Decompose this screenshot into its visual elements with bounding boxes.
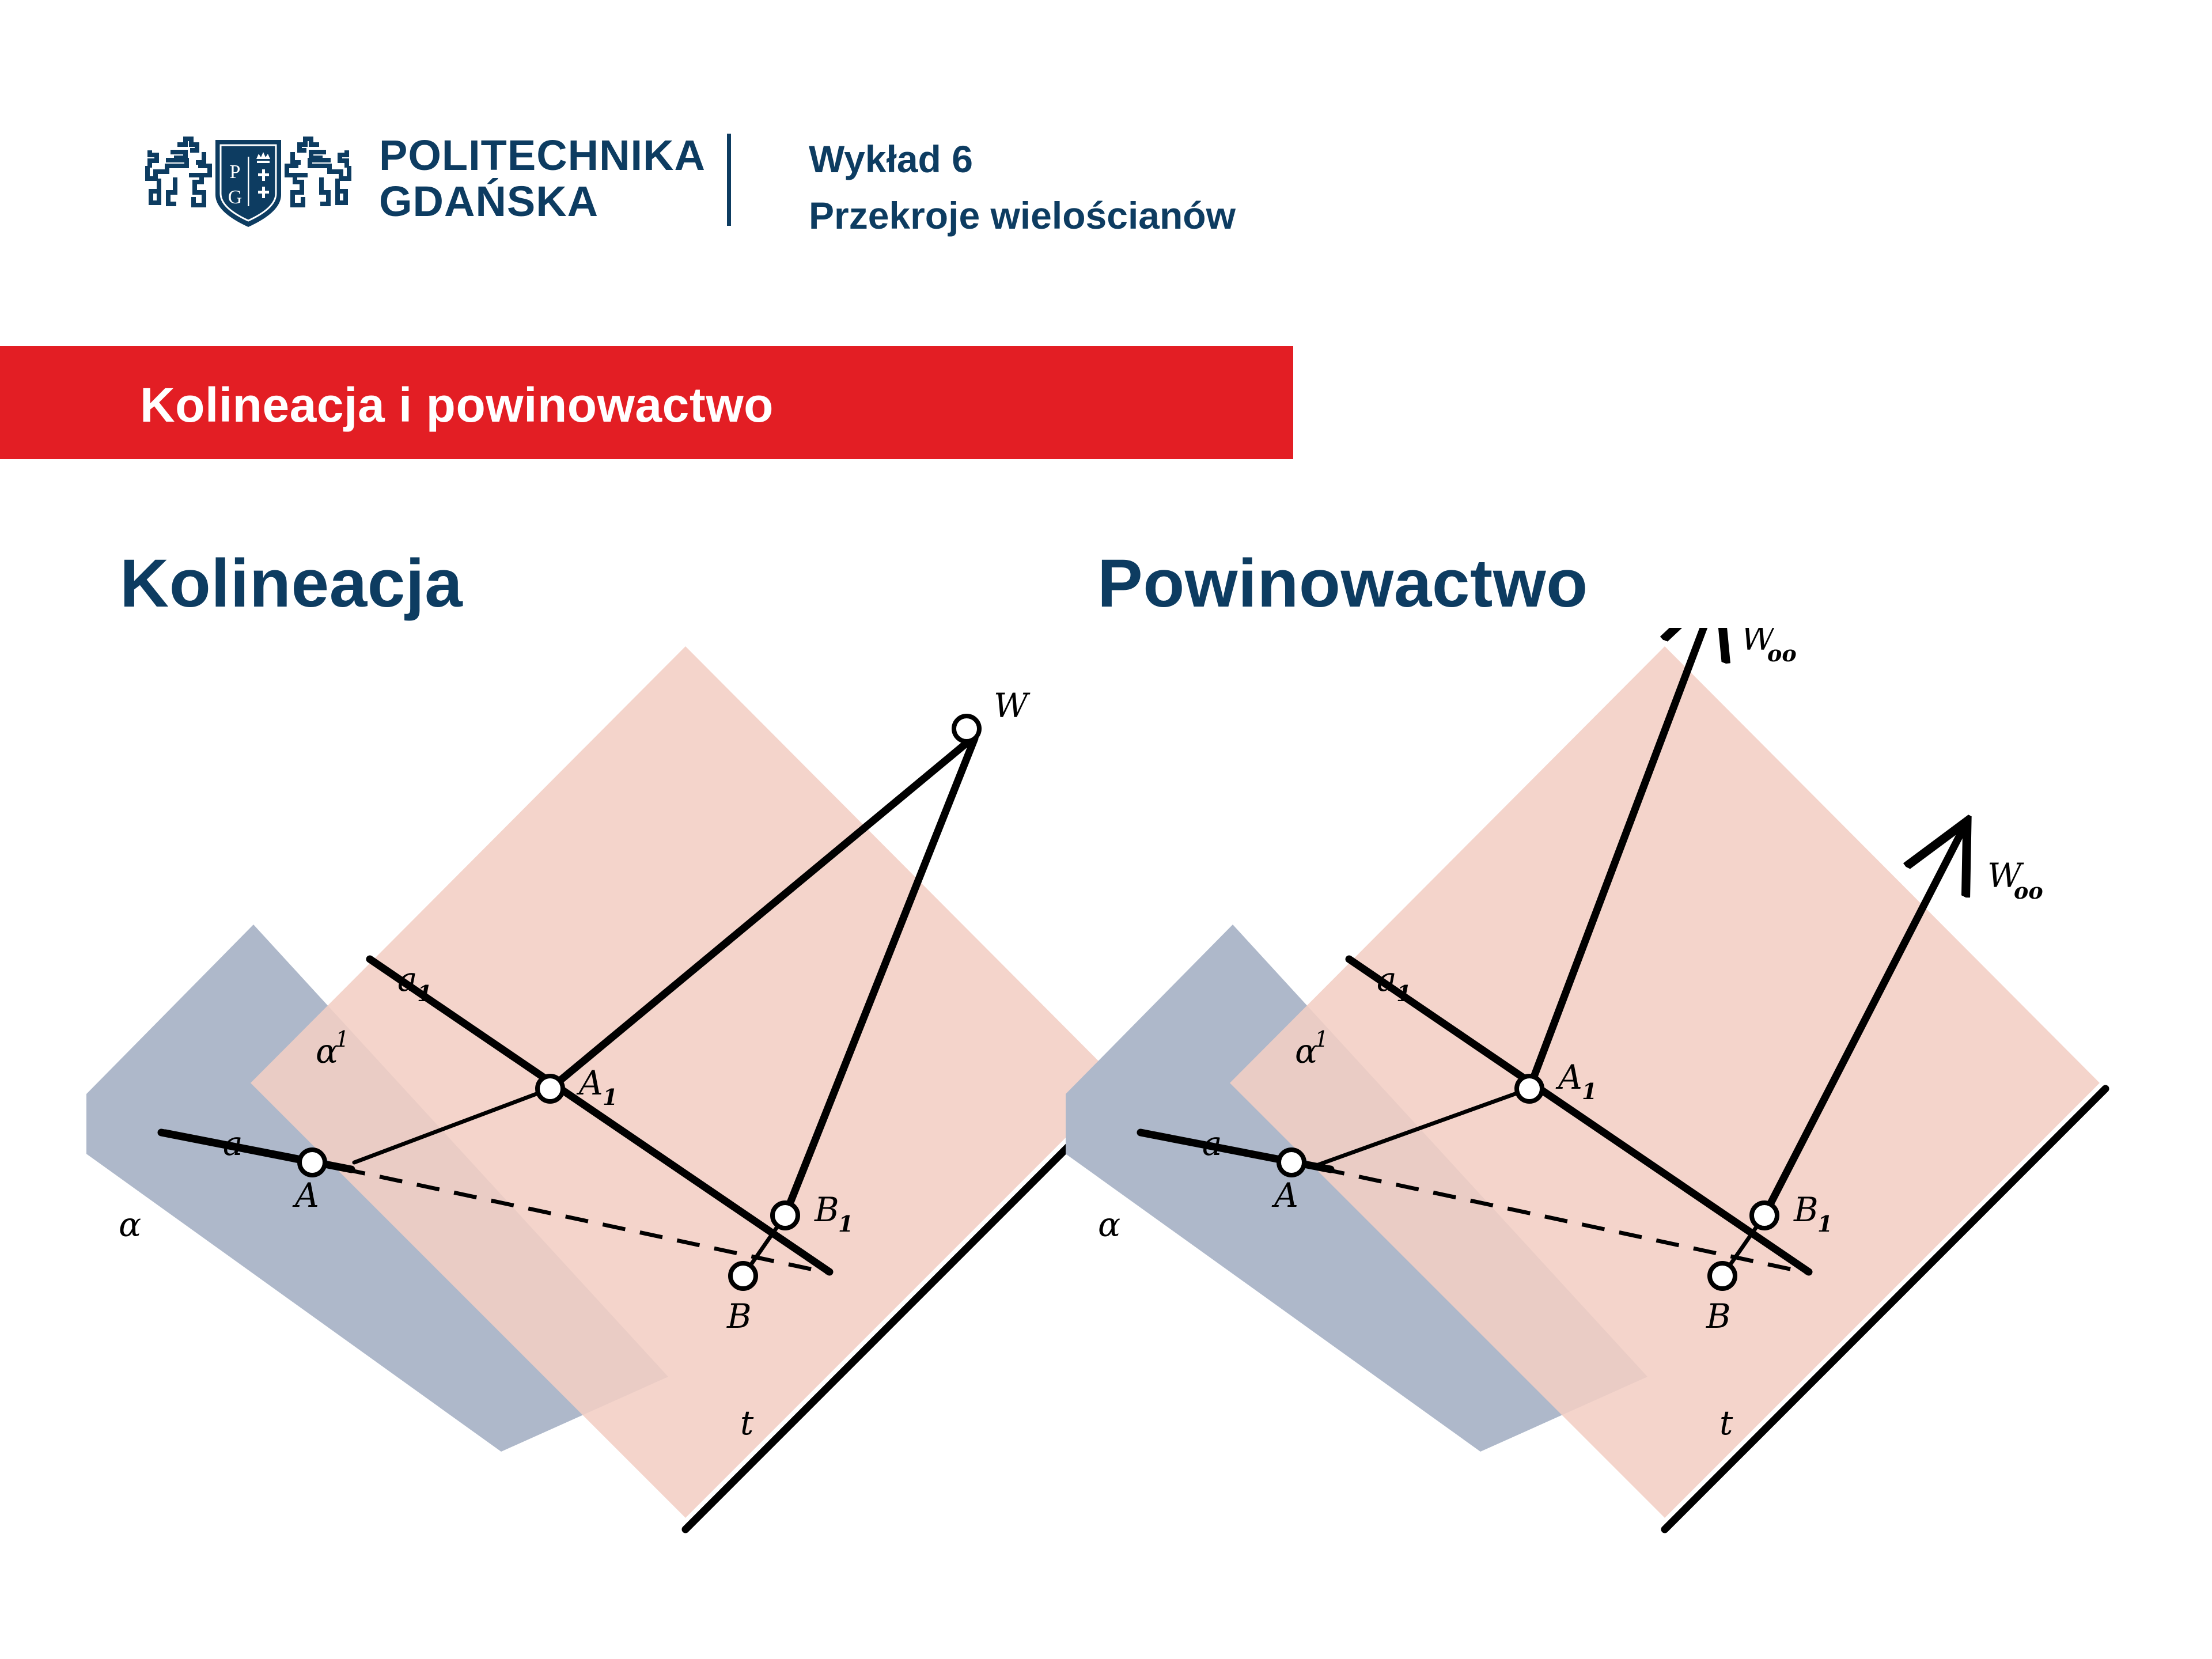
label-a1: a <box>1377 960 1397 999</box>
label-a1: a <box>397 960 418 999</box>
label-W-infinity-2-subscript: oo <box>2014 878 2043 904</box>
point-A <box>1279 1150 1304 1175</box>
point-A1 <box>537 1076 563 1101</box>
pg-coat-of-arms-icon: P G <box>136 124 361 237</box>
point-A <box>300 1150 325 1175</box>
label-A1: A <box>576 1063 603 1103</box>
label-A1: A <box>1555 1058 1582 1097</box>
point-B1 <box>772 1203 798 1228</box>
label-B: B <box>726 1297 752 1336</box>
label-axis-t: t <box>1719 1403 1733 1442</box>
lecture-number: Wykład 6 <box>809 131 1236 188</box>
label-A: A <box>292 1176 319 1215</box>
label-axis-t: t <box>740 1403 754 1442</box>
header-divider <box>727 134 731 226</box>
svg-text:G: G <box>228 187 243 208</box>
lecture-topic: Przekroje wielościanów <box>809 188 1236 244</box>
label-line-a: a <box>1202 1124 1222 1163</box>
point-W <box>954 716 979 741</box>
plane-alpha-image <box>251 646 1120 1518</box>
point-B <box>730 1263 756 1289</box>
label-A1-subscript: 1 <box>603 1084 618 1110</box>
label-B1: B <box>1793 1190 1819 1229</box>
panel-title-kolineacja: Kolineacja <box>120 544 463 623</box>
label-plane-alpha-base: α <box>119 1205 141 1244</box>
label-plane-alpha-base: α <box>1098 1205 1120 1244</box>
diagram-kolineacja: W a 1 α 1 A 1 a A B 1 B α t <box>86 628 1181 1659</box>
label-B: B <box>1706 1297 1731 1336</box>
point-B1 <box>1752 1203 1777 1228</box>
label-plane-alpha-image-superscript: 1 <box>1315 1027 1328 1052</box>
section-banner-title: Kolineacja i powinowactwo <box>140 377 774 433</box>
label-B1-subscript: 1 <box>838 1211 853 1237</box>
svg-text:P: P <box>230 161 241 183</box>
label-B1-subscript: 1 <box>1817 1211 1832 1237</box>
label-A1-subscript: 1 <box>1582 1078 1597 1104</box>
diagram-powinowactwo: W oo W oo a 1 α 1 A 1 a A B 1 B α t <box>1066 628 2212 1659</box>
label-B1: B <box>814 1190 839 1229</box>
label-A: A <box>1271 1176 1298 1215</box>
lecture-info: Wykład 6 Przekroje wielościanów <box>809 131 1236 244</box>
label-W-infinity-1-subscript: oo <box>1767 641 1797 666</box>
point-A1 <box>1517 1076 1542 1101</box>
plane-alpha-image <box>1230 646 2100 1518</box>
institution-wordmark: POLITECHNIKA GDAŃSKA <box>379 132 706 225</box>
label-line-a: a <box>223 1124 243 1163</box>
label-a1-subscript: 1 <box>1396 980 1411 1006</box>
label-a1-subscript: 1 <box>417 980 432 1006</box>
page-header: P G <box>0 0 2212 323</box>
panel-title-powinowactwo: Powinowactwo <box>1097 544 1588 623</box>
label-W: W <box>994 686 1031 725</box>
point-B <box>1710 1263 1735 1289</box>
label-plane-alpha-image-superscript: 1 <box>335 1027 349 1052</box>
